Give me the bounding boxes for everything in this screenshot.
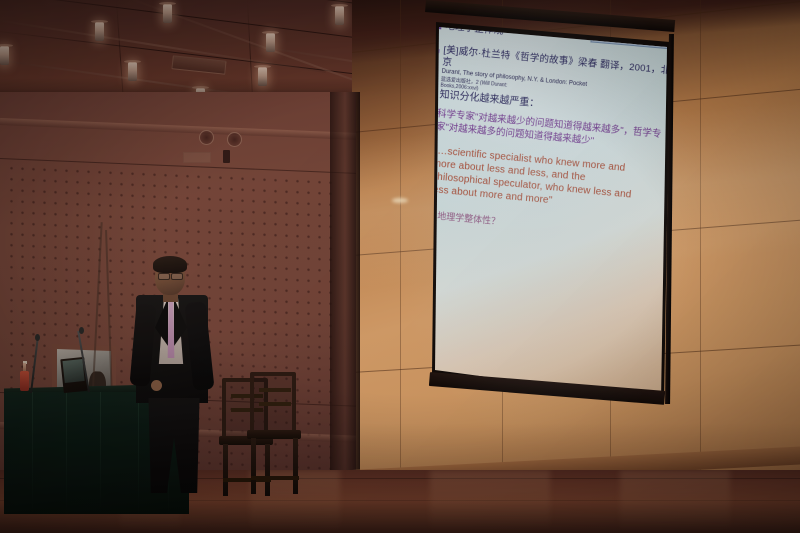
water-bottle [20,363,29,391]
trousers [145,398,203,493]
slide-content: 地理学整体观 [美]威尔·杜兰特《哲学的故事》梁春 翻译，2001，北京 Dur… [424,20,677,401]
track-light [163,4,172,23]
projection-screen: 地理学整体观 [美]威尔·杜兰特《哲学的故事》梁春 翻译，2001，北京 Dur… [424,6,678,418]
track-light [266,33,275,52]
eyeglasses-icon [158,273,170,280]
bullet-marker [430,113,433,116]
wall-sign [183,152,211,163]
presenter [131,258,227,493]
wall-corner-column [330,92,360,492]
eyeglasses-icon [171,273,183,280]
ceiling-speaker-icon [227,132,242,147]
ceiling-speaker-icon [199,130,214,145]
track-light [335,6,344,25]
track-light [0,46,9,65]
laptop-screen [62,359,84,383]
screen-surface: 地理学整体观 [美]威尔·杜兰特《哲学的故事》梁春 翻译，2001，北京 Dur… [424,6,678,418]
hand [151,380,162,391]
lecture-hall-photo: 地理学整体观 [美]威尔·杜兰特《哲学的故事》梁春 翻译，2001，北京 Dur… [0,0,800,533]
microphone-head [35,334,40,341]
microphone-head [79,327,84,334]
track-light [95,22,104,41]
wall-plate [223,150,230,163]
hair [153,256,187,273]
bullet-marker [427,149,430,152]
